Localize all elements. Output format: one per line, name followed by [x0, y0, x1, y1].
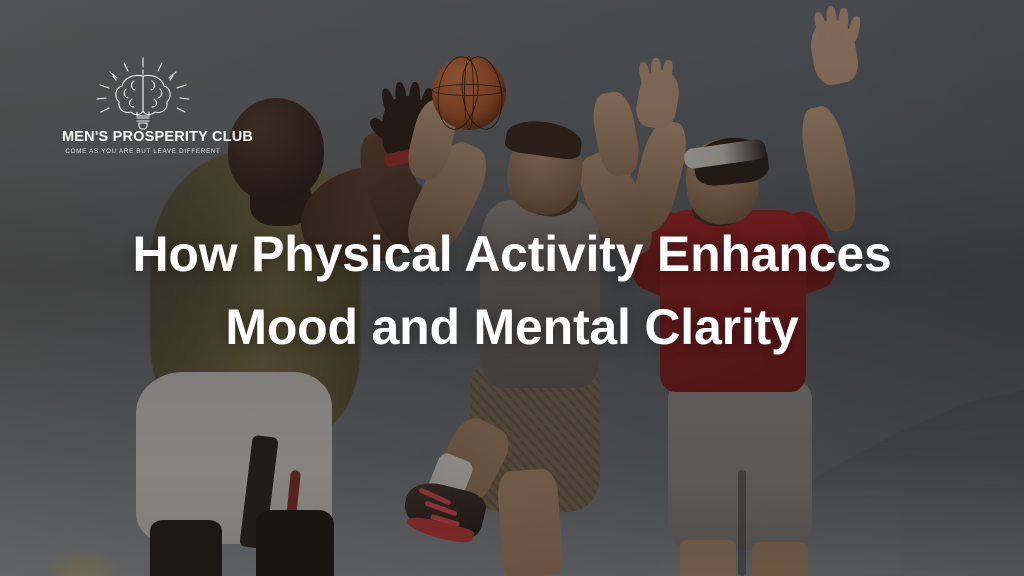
title-line-1: How Physical Activity Enhances — [56, 218, 968, 291]
brand-name: MEN'S PROSPERITY CLUB — [62, 130, 224, 145]
brand-tagline: COME AS YOU ARE BUT LEAVE DIFFERENT — [62, 148, 224, 155]
brand-logo[interactable]: MEN'S PROSPERITY CLUB COME AS YOU ARE BU… — [62, 56, 224, 155]
title-slide: MEN'S PROSPERITY CLUB COME AS YOU ARE BU… — [0, 0, 1024, 576]
title-line-2: Mood and Mental Clarity — [56, 291, 968, 364]
brain-lightbulb-icon — [62, 56, 224, 130]
slide-title: How Physical Activity Enhances Mood and … — [0, 218, 1024, 363]
